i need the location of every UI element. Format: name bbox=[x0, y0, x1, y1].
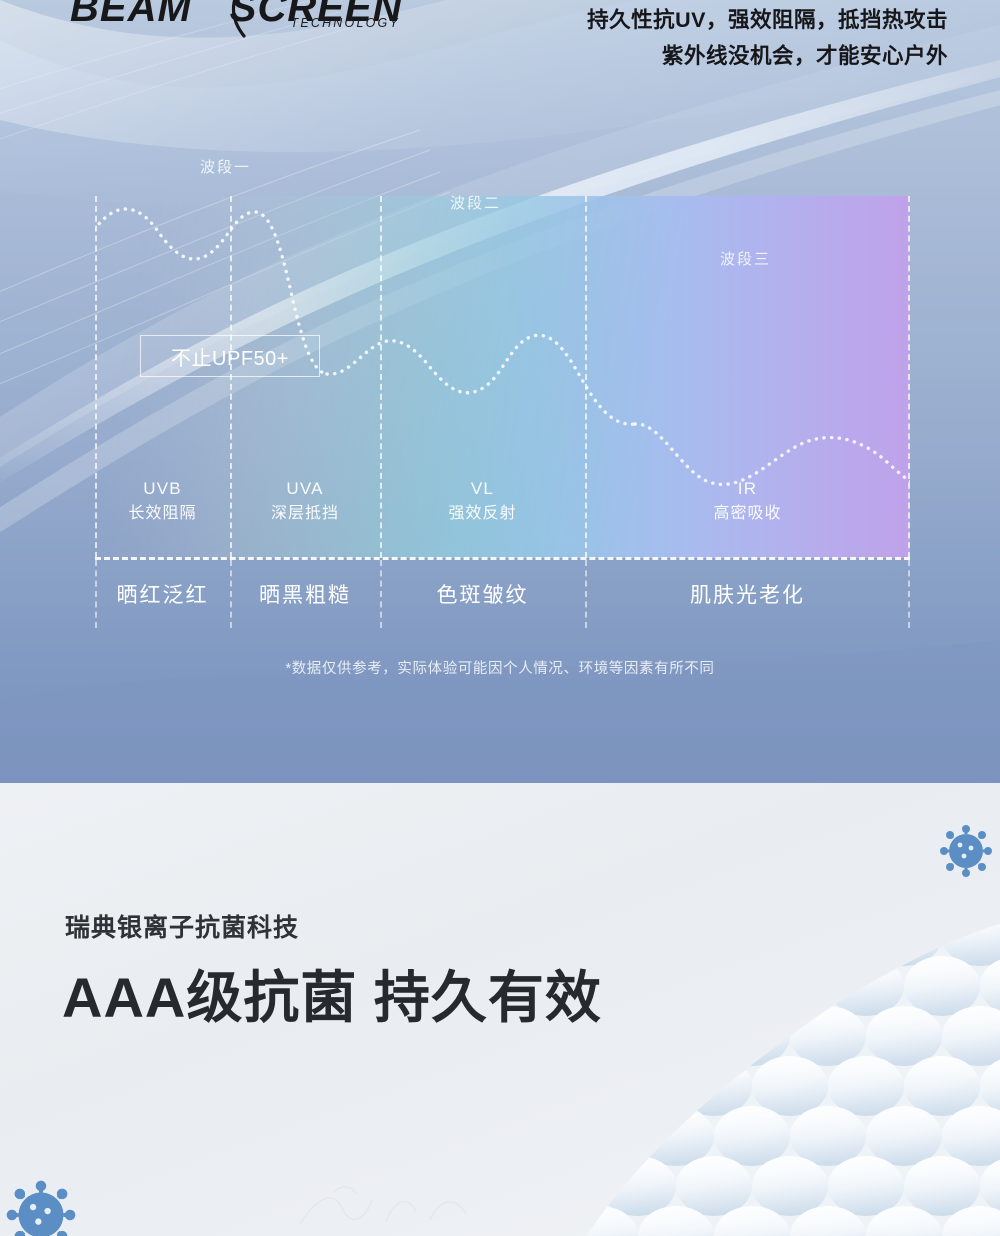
uv-protection-section: BEAMSCREEN TECHNOLOGY 持久性抗UV，强效阻隔，抵挡热攻击 … bbox=[0, 0, 1000, 783]
logo-word-beam: BEAM bbox=[70, 0, 192, 30]
brand-logo: BEAMSCREEN TECHNOLOGY bbox=[70, 0, 410, 46]
woven-fabric-texture-icon bbox=[540, 826, 1000, 1236]
effect-uva: 晒黑粗糙 bbox=[230, 560, 380, 628]
effect-ir: 肌肤光老化 bbox=[585, 560, 910, 628]
logo-tagline: TECHNOLOGY bbox=[290, 16, 400, 30]
category-action: 深层抵挡 bbox=[230, 501, 380, 526]
spectrum-category-uva: UVA 深层抵挡 bbox=[230, 476, 380, 526]
effect-vl: 色斑皱纹 bbox=[380, 560, 585, 628]
antibacterial-title: AAA级抗菌 持久有效 bbox=[62, 953, 602, 1034]
spectrum-category-vl: VL 强效反射 bbox=[380, 476, 585, 526]
antibacterial-subtitle: 瑞典银离子抗菌科技 bbox=[65, 908, 299, 944]
headline-line-2: 紫外线没机会，才能安心户外 bbox=[587, 38, 948, 74]
virus-icon bbox=[938, 823, 994, 879]
headline-line-1: 持久性抗UV，强效阻隔，抵挡热攻击 bbox=[587, 2, 948, 38]
spectrum-category-ir: IR 高密吸收 bbox=[585, 476, 910, 526]
antibacterial-section: 瑞典银离子抗菌科技 AAA级抗菌 持久有效 bbox=[0, 783, 1000, 1236]
effect-uvb: 晒红泛红 bbox=[95, 560, 230, 628]
category-code: VL bbox=[380, 476, 585, 501]
swoosh-icon bbox=[222, 0, 262, 38]
category-code: UVB bbox=[95, 476, 230, 501]
uv-effects-row: 晒红泛红 晒黑粗糙 色斑皱纹 肌肤光老化 bbox=[95, 560, 910, 628]
watermark-graphic bbox=[290, 1178, 500, 1234]
band-label-1: 波段一 bbox=[200, 156, 251, 177]
uv-spectrum-chart: 波段一 波段二 波段三 不止UPF50+ UVB 长效阻隔 UVA 深层抵挡 V… bbox=[95, 196, 910, 558]
category-action: 长效阻隔 bbox=[95, 501, 230, 526]
product-detail-page: BEAMSCREEN TECHNOLOGY 持久性抗UV，强效阻隔，抵挡热攻击 … bbox=[0, 0, 1000, 1236]
spectrum-category-uvb: UVB 长效阻隔 bbox=[95, 476, 230, 526]
headline: 持久性抗UV，强效阻隔，抵挡热攻击 紫外线没机会，才能安心户外 bbox=[587, 2, 948, 74]
upf-badge: 不止UPF50+ bbox=[140, 335, 320, 377]
category-code: UVA bbox=[230, 476, 380, 501]
category-action: 高密吸收 bbox=[585, 501, 910, 526]
chart-footnote: *数据仅供参考，实际体验可能因个人情况、环境等因素有所不同 bbox=[0, 657, 1000, 678]
band-label-2: 波段二 bbox=[450, 192, 501, 213]
category-action: 强效反射 bbox=[380, 501, 585, 526]
band-label-3: 波段三 bbox=[720, 248, 771, 269]
category-code: IR bbox=[585, 476, 910, 501]
virus-icon-secondary bbox=[4, 1178, 78, 1236]
